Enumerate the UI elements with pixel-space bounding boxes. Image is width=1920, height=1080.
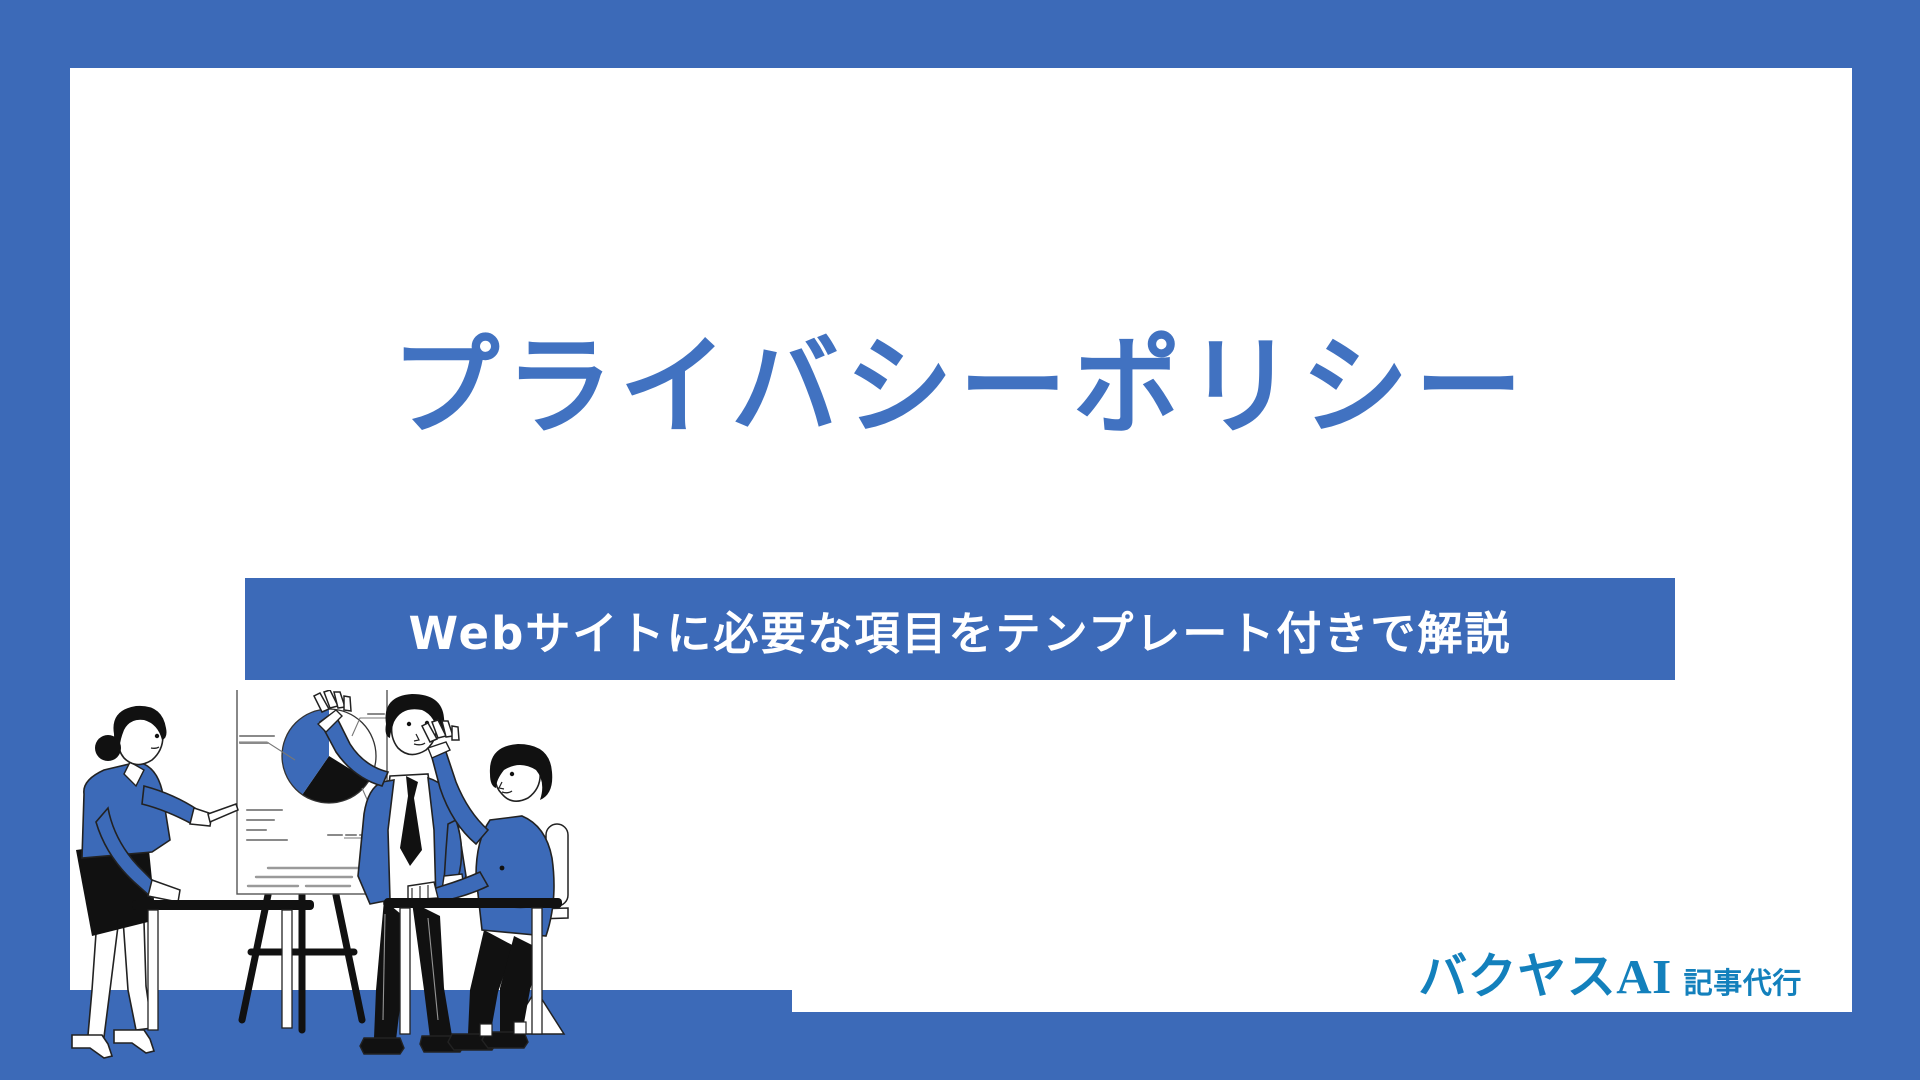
slide-root: プライバシーポリシー Webサイトに必要な項目をテンプレート付きで解説 バクヤス… [0,0,1920,1080]
business-presentation-illustration [52,690,792,1080]
page-title: プライバシーポリシー [0,330,1920,447]
logo-service-name: 記事代行 [1684,960,1802,1002]
subtitle-text: Webサイトに必要な項目をテンプレート付きで解説 [408,597,1511,662]
floor-strip [52,990,792,1080]
logo-brand-name: バクヤスAI [1418,937,1671,1008]
subtitle-band: Webサイトに必要な項目をテンプレート付きで解説 [245,578,1675,680]
brand-logo: バクヤスAI 記事代行 [1418,937,1802,1008]
